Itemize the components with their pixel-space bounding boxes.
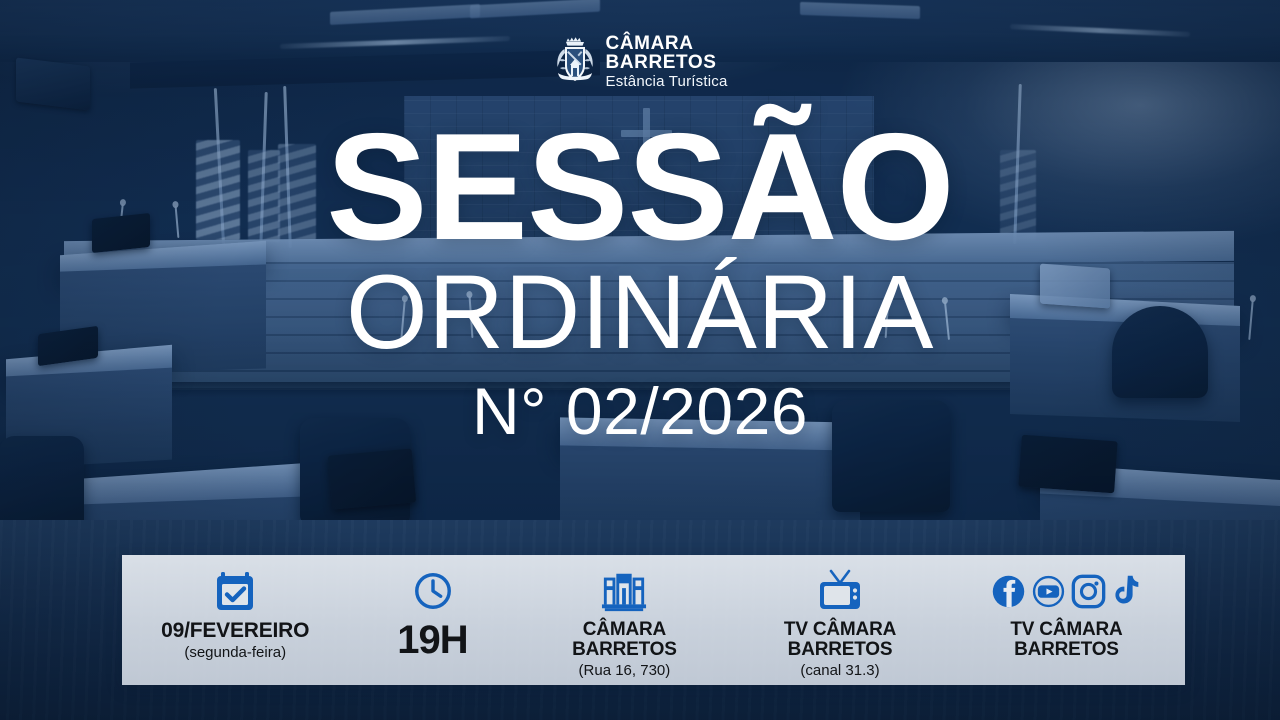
tv-main-2: BARRETOS <box>784 640 896 660</box>
clock-icon-wrap <box>412 568 454 614</box>
date-sub: (segunda-feira) <box>161 644 309 662</box>
info-item-place-text: CÂMARA BARRETOS (Rua 16, 730) <box>572 620 677 680</box>
government-building-icon <box>601 569 647 613</box>
info-item-date: 09/FEVEREIRO (segunda-feira) <box>122 555 348 685</box>
tiktok-icon[interactable] <box>1110 573 1143 610</box>
television-icon-wrap <box>816 568 864 614</box>
brand-logo-lockup: CÂMARA BARRETOS Estância Turística <box>0 34 1280 89</box>
television-icon <box>816 569 864 613</box>
place-main: CÂMARA <box>572 620 677 640</box>
coat-of-arms-icon <box>553 35 597 87</box>
youtube-icon[interactable] <box>1030 573 1067 610</box>
government-building-icon-wrap <box>601 568 647 614</box>
brand-line-1: CÂMARA <box>606 34 728 53</box>
title-line-ordinaria: ORDINÁRIA <box>0 254 1280 372</box>
calendar-check-icon <box>213 569 257 613</box>
facebook-icon[interactable] <box>990 573 1027 610</box>
clock-icon <box>412 570 454 612</box>
place-sub: (Rua 16, 730) <box>572 662 677 680</box>
title-line-numero: N° 02/2026 <box>0 375 1280 448</box>
social-main-2: BARRETOS <box>1010 640 1122 660</box>
tv-main: TV CÂMARA <box>784 620 896 640</box>
info-item-tv-text: TV CÂMARA BARRETOS (canal 31.3) <box>784 620 896 680</box>
poster-title-block: SESSÃO ORDINÁRIA N° 02/2026 <box>0 118 1280 448</box>
info-item-tv: TV CÂMARA BARRETOS (canal 31.3) <box>732 555 948 685</box>
info-item-date-text: 09/FEVEREIRO (segunda-feira) <box>161 620 309 662</box>
brand-line-3: Estância Turística <box>606 74 728 89</box>
tv-sub: (canal 31.3) <box>784 662 896 680</box>
place-main-2: BARRETOS <box>572 640 677 660</box>
instagram-icon[interactable] <box>1070 573 1107 610</box>
info-item-social: TV CÂMARA BARRETOS <box>948 555 1185 685</box>
info-bar: 09/FEVEREIRO (segunda-feira) 19H <box>122 555 1185 685</box>
info-item-time-text: 19H <box>397 620 467 660</box>
brand-logo-text: CÂMARA BARRETOS Estância Turística <box>606 34 728 89</box>
brand-line-2: BARRETOS <box>606 53 728 72</box>
calendar-check-icon-wrap <box>213 568 257 614</box>
title-line-sessao: SESSÃO <box>0 118 1280 258</box>
info-item-place: CÂMARA BARRETOS (Rua 16, 730) <box>517 555 733 685</box>
date-main: 09/FEVEREIRO <box>161 620 309 642</box>
info-item-time: 19H <box>348 555 516 685</box>
social-icon-row <box>990 568 1143 614</box>
info-item-social-text: TV CÂMARA BARRETOS <box>1010 620 1122 660</box>
poster-canvas: CÂMARA BARRETOS Estância Turística SESSÃ… <box>0 0 1280 720</box>
social-main: TV CÂMARA <box>1010 620 1122 640</box>
time-main: 19H <box>397 620 467 660</box>
